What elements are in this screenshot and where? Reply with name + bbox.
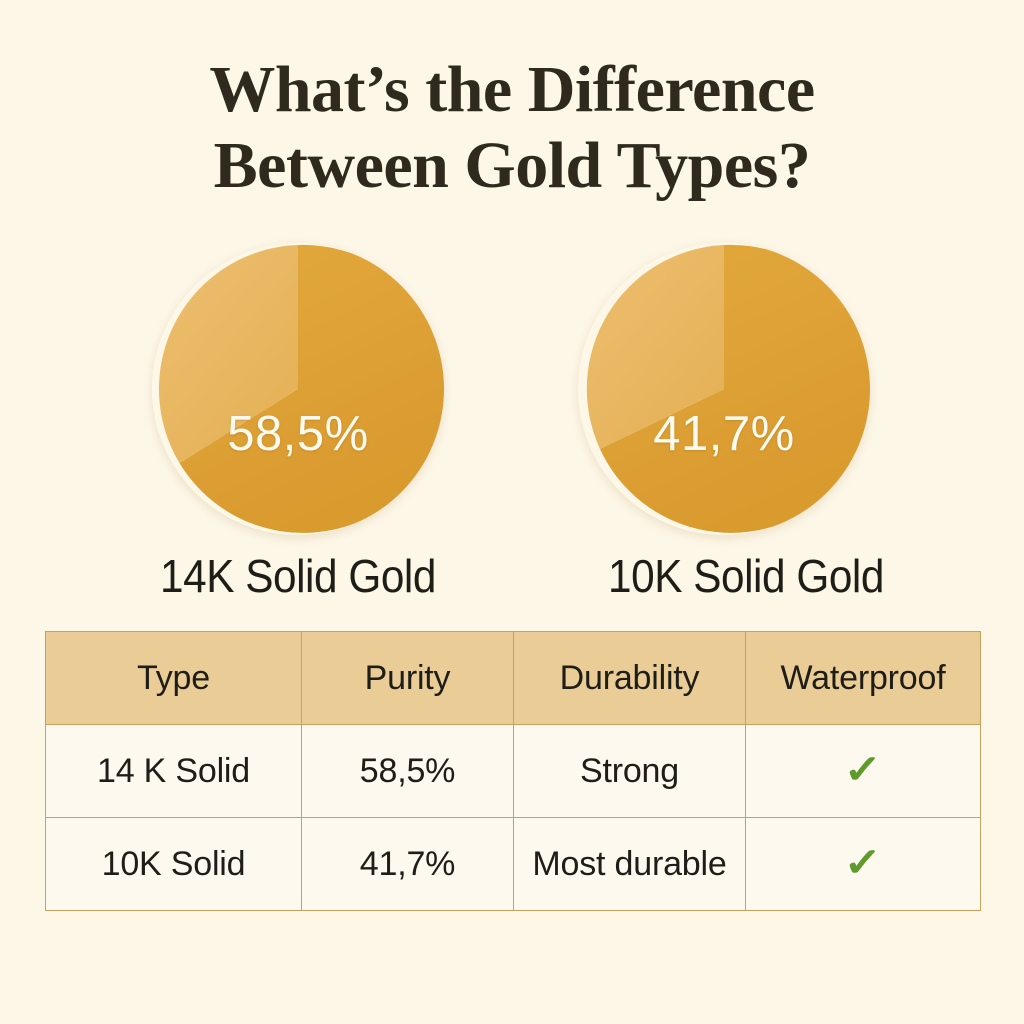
pie-graphic-10k: 41,7%: [578, 243, 870, 535]
table-row: 14 K Solid 58,5% Strong ✓: [46, 725, 981, 818]
page-title: What’s the Difference Between Gold Types…: [0, 52, 1024, 204]
cell-waterproof-10k: ✓: [746, 818, 981, 911]
table-row: 10K Solid 41,7% Most durable ✓: [46, 818, 981, 911]
pie-caption-10k: 10K Solid Gold: [571, 548, 921, 604]
check-icon: ✓: [844, 843, 882, 883]
cell-durability-14k: Strong: [514, 725, 746, 818]
gold-comparison-table: Type Purity Durability Waterproof 14 K S…: [45, 631, 981, 911]
pie-chart-14k: 58,5%: [152, 243, 452, 543]
cell-waterproof-14k: ✓: [746, 725, 981, 818]
column-header-type: Type: [46, 632, 302, 725]
pie-graphic-14k: 58,5%: [152, 243, 444, 535]
cell-durability-10k: Most durable: [514, 818, 746, 911]
column-header-waterproof: Waterproof: [746, 632, 981, 725]
column-header-durability: Durability: [514, 632, 746, 725]
pie-value-10k: 41,7%: [578, 406, 870, 462]
cell-type-10k: 10K Solid: [46, 818, 302, 911]
pie-caption-14k: 14K Solid Gold: [123, 548, 473, 604]
page-title-line-2: Between Gold Types?: [0, 128, 1024, 204]
pie-captions-row: 14K Solid Gold 10K Solid Gold: [0, 548, 1024, 610]
cell-purity-14k: 58,5%: [302, 725, 514, 818]
pie-value-14k: 58,5%: [152, 406, 444, 462]
pie-svg-10k: [578, 243, 870, 535]
cell-purity-10k: 41,7%: [302, 818, 514, 911]
pie-svg-14k: [152, 243, 444, 535]
page-title-line-1: What’s the Difference: [0, 52, 1024, 128]
gold-types-infographic: What’s the Difference Between Gold Types…: [0, 0, 1024, 1024]
table-body: 14 K Solid 58,5% Strong ✓ 10K Solid 41,7…: [46, 725, 981, 911]
pie-chart-10k: 41,7%: [578, 243, 878, 543]
cell-type-14k: 14 K Solid: [46, 725, 302, 818]
table-header-row: Type Purity Durability Waterproof: [46, 632, 981, 725]
check-icon: ✓: [844, 750, 882, 790]
column-header-purity: Purity: [302, 632, 514, 725]
table-header: Type Purity Durability Waterproof: [46, 632, 981, 725]
pie-charts-row: 58,5%: [0, 243, 1024, 543]
